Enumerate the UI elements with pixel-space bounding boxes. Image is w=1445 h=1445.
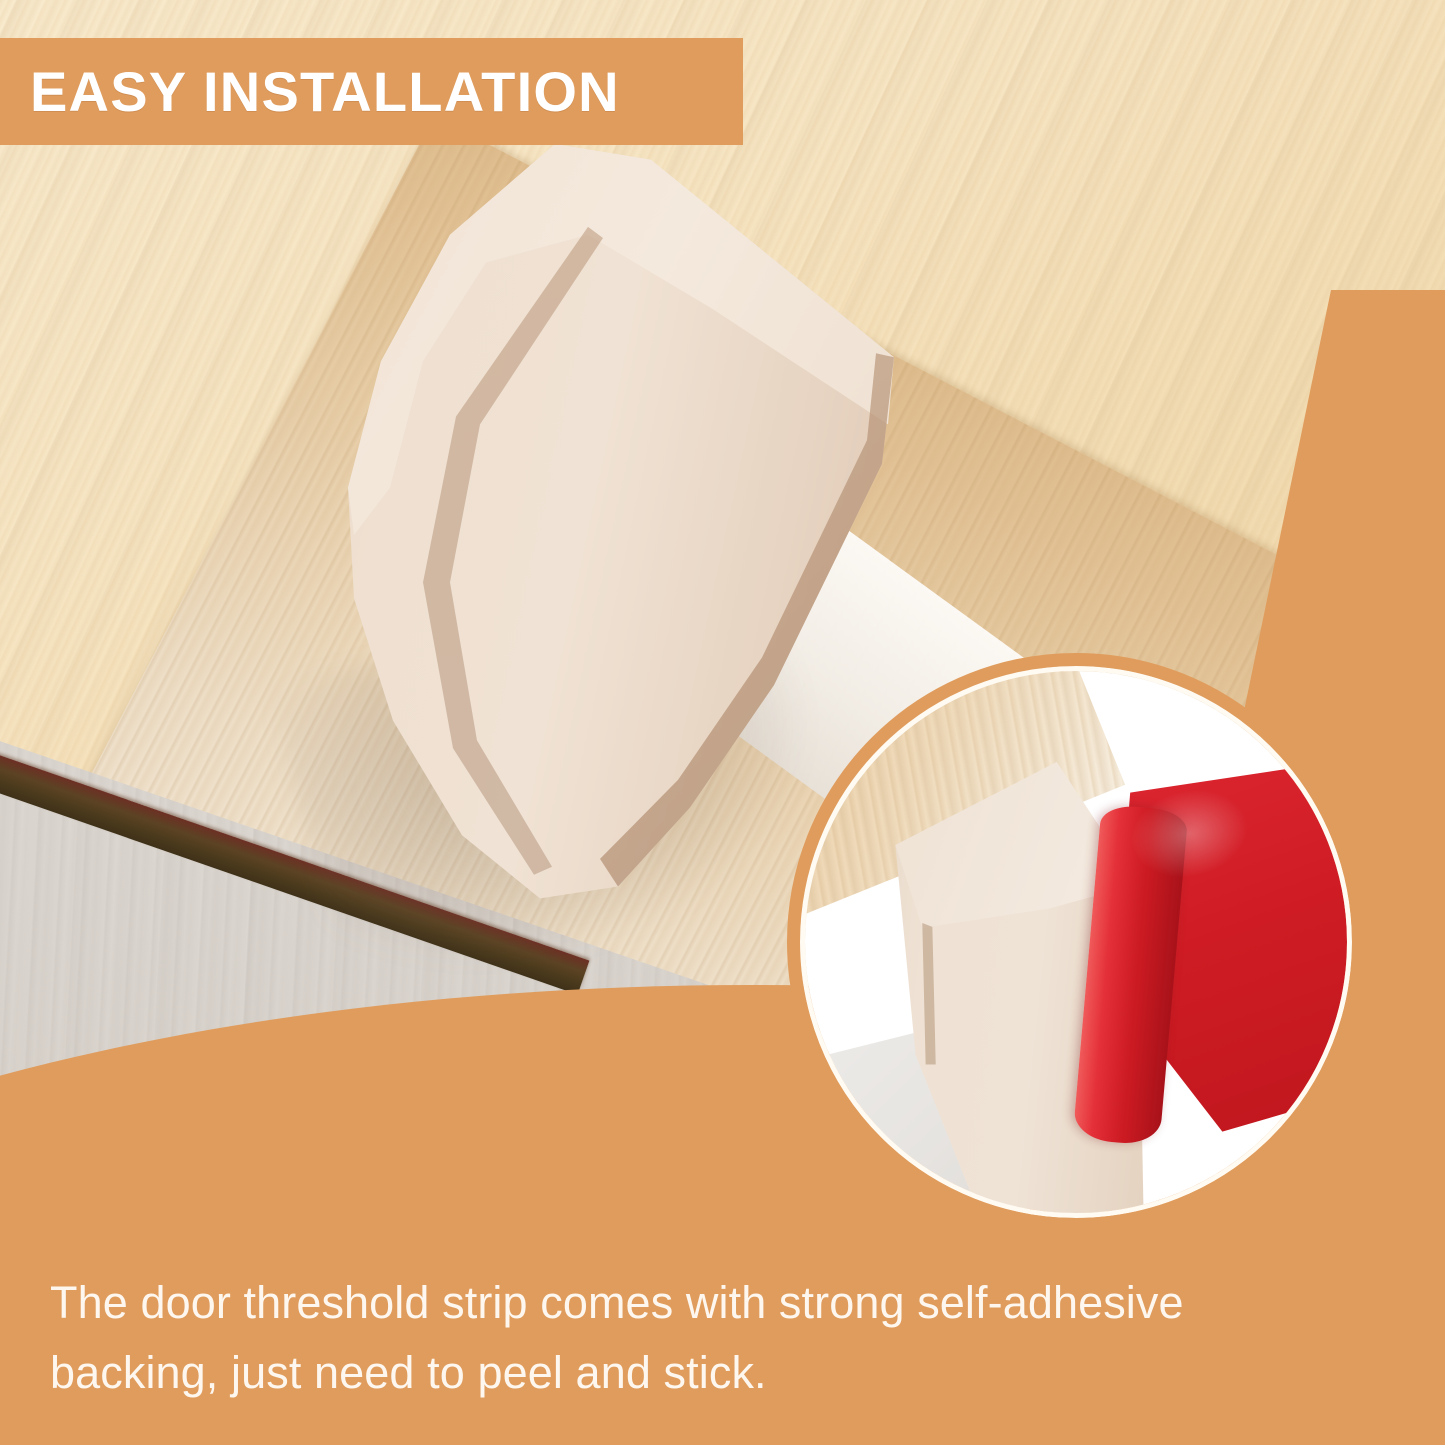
product-marketing-image: EASY INSTALLATION The door threshold str…: [0, 0, 1445, 1445]
header-banner: EASY INSTALLATION: [0, 38, 743, 145]
banner-title: EASY INSTALLATION: [30, 59, 620, 124]
caption-line-2: backing, just need to peel and stick.: [50, 1338, 1410, 1408]
caption-block: The door threshold strip comes with stro…: [50, 1268, 1410, 1408]
caption-line-1: The door threshold strip comes with stro…: [50, 1268, 1410, 1338]
closeup-inset-circle: [787, 653, 1365, 1231]
inset-ring-outer-orange: [787, 653, 1365, 1231]
